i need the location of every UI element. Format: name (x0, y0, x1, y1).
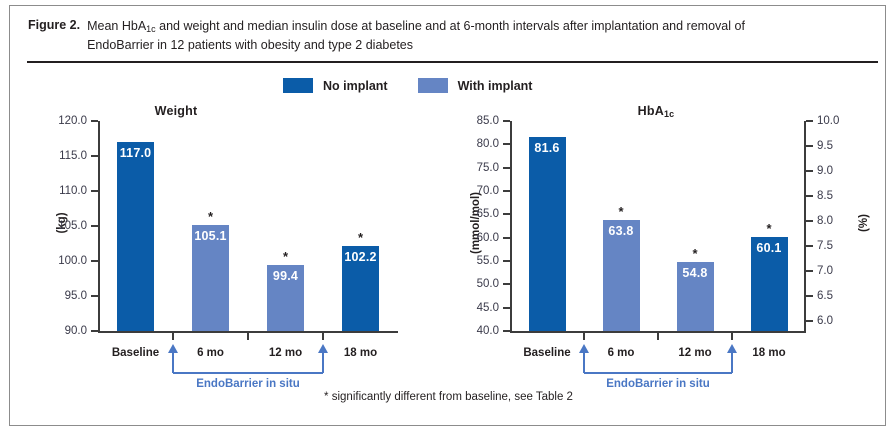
chart-title-hba1c: HbA1c (434, 104, 878, 119)
y-tick-label-hba1c: 80.0 (477, 138, 499, 150)
figure-frame: Figure 2. Mean HbA1c and weight and medi… (9, 5, 886, 426)
y-tick-right-hba1c (806, 245, 813, 247)
y-tick-hba1c (503, 120, 510, 122)
y-axis-weight (98, 121, 100, 333)
y-tick-hba1c (503, 143, 510, 145)
endobarrier-bracket-hba1c: EndoBarrier in situ (510, 333, 806, 393)
legend-swatch-no-implant (283, 78, 313, 93)
caption-text-pre: Mean HbA (87, 19, 146, 33)
y-tick-right-hba1c (806, 295, 813, 297)
bar-weight-6-mo: 105.1 (192, 225, 230, 331)
legend-item-with-implant: With implant (418, 78, 533, 93)
y-tick-right-hba1c (806, 145, 813, 147)
bar-value-label: 54.8 (677, 266, 714, 280)
plot-area-weight: (kg) 90.095.0100.0105.0110.0115.0120.011… (98, 121, 398, 333)
y-tick-right-hba1c (806, 195, 813, 197)
y-tick-label-right-hba1c: 8.0 (817, 215, 833, 227)
bar-value-label: 60.1 (751, 241, 788, 255)
bar-value-label: 102.2 (342, 250, 380, 264)
bracket-arrow-icon (318, 344, 328, 353)
caption-text-line2: EndoBarrier in 12 patients with obesity … (87, 38, 413, 52)
bar-hba1c-12-mo: 54.8 (677, 262, 714, 331)
bracket-arrow-icon (168, 344, 178, 353)
y-tick-weight (91, 190, 98, 192)
y-tick-right-hba1c (806, 320, 813, 322)
y-tick-label-hba1c: 40.0 (477, 325, 499, 337)
y-tick-label-weight: 105.0 (58, 220, 87, 232)
y-axis-right-hba1c (804, 121, 806, 333)
y-tick-label-weight: 115.0 (59, 150, 87, 162)
y-tick-label-right-hba1c: 8.5 (817, 190, 833, 202)
legend-label-no-implant: No implant (323, 79, 388, 93)
y-tick-right-hba1c (806, 220, 813, 222)
bar-hba1c-18-mo: 60.1 (751, 237, 788, 331)
bracket-arrow-icon (579, 344, 589, 353)
bracket-base-line (584, 372, 732, 374)
chart-panel-weight: Weight (kg) 90.095.0100.0105.0110.0115.0… (26, 104, 446, 404)
figure-footnote: * significantly different from baseline,… (10, 391, 887, 403)
y-tick-right-hba1c (806, 170, 813, 172)
bar-value-label: 117.0 (117, 146, 155, 160)
y-tick-hba1c (503, 213, 510, 215)
bar-weight-12-mo: 99.4 (267, 265, 305, 331)
y-tick-hba1c (503, 307, 510, 309)
caption-subscript: 1c (146, 24, 156, 34)
significance-marker: * (687, 247, 703, 260)
bracket-label: EndoBarrier in situ (606, 378, 710, 390)
bracket-arm (172, 352, 174, 373)
y-tick-weight (91, 120, 98, 122)
bracket-base-line (173, 372, 323, 374)
y-tick-weight (91, 330, 98, 332)
y-tick-label-right-hba1c: 7.5 (817, 240, 833, 252)
plot-area-hba1c: (mmol/mol) (%) 40.045.050.055.060.065.07… (510, 121, 806, 333)
y-tick-hba1c (503, 237, 510, 239)
y-tick-weight (91, 295, 98, 297)
y-tick-label-hba1c: 65.0 (477, 208, 499, 220)
y-tick-label-weight: 110.0 (59, 185, 87, 197)
bar-value-label: 105.1 (192, 229, 230, 243)
chart-panel-hba1c: HbA1c (mmol/mol) (%) 40.045.050.055.060.… (446, 104, 890, 404)
bar-hba1c-baseline: 81.6 (529, 137, 566, 331)
y-tick-weight (91, 225, 98, 227)
y-axis-hba1c (510, 121, 512, 333)
y-tick-hba1c (503, 330, 510, 332)
bracket-arm (583, 352, 585, 373)
figure-caption: Figure 2. Mean HbA1c and weight and medi… (28, 18, 868, 53)
y-tick-hba1c (503, 167, 510, 169)
y-tick-right-hba1c (806, 120, 813, 122)
y-tick-label-right-hba1c: 7.0 (817, 265, 833, 277)
significance-marker: * (278, 250, 294, 263)
y-tick-label-hba1c: 60.0 (477, 232, 499, 244)
y-tick-right-hba1c (806, 270, 813, 272)
bracket-label: EndoBarrier in situ (196, 378, 300, 390)
y-tick-label-hba1c: 45.0 (477, 302, 499, 314)
chart-title-hba1c-main: HbA (638, 104, 664, 118)
bar-weight-18-mo: 102.2 (342, 246, 380, 331)
significance-marker: * (613, 205, 629, 218)
legend-swatch-with-implant (418, 78, 448, 93)
y-axis-right-title-hba1c: (%) (858, 203, 870, 243)
y-tick-hba1c (503, 190, 510, 192)
y-tick-label-right-hba1c: 9.0 (817, 165, 833, 177)
significance-marker: * (761, 222, 777, 235)
y-tick-label-hba1c: 85.0 (477, 115, 499, 127)
bar-value-label: 81.6 (529, 141, 566, 155)
bar-weight-baseline: 117.0 (117, 142, 155, 331)
chart-legend: No implant With implant (283, 78, 532, 93)
legend-item-no-implant: No implant (283, 78, 388, 93)
y-tick-label-right-hba1c: 10.0 (817, 115, 839, 127)
chart-title-hba1c-subscript: 1c (664, 109, 674, 119)
significance-marker: * (353, 231, 369, 244)
y-tick-label-hba1c: 75.0 (477, 162, 499, 174)
bar-value-label: 99.4 (267, 269, 305, 283)
caption-text-post: and weight and median insulin dose at ba… (156, 19, 745, 33)
y-tick-label-hba1c: 70.0 (477, 185, 499, 197)
bracket-arrow-icon (727, 344, 737, 353)
bracket-arm (731, 352, 733, 373)
bar-hba1c-6-mo: 63.8 (603, 220, 640, 331)
legend-label-with-implant: With implant (458, 79, 533, 93)
y-tick-label-weight: 100.0 (58, 255, 87, 267)
figure-label: Figure 2. (28, 18, 80, 32)
bar-value-label: 63.8 (603, 224, 640, 238)
y-tick-label-weight: 95.0 (65, 290, 87, 302)
figure-caption-text: Mean HbA1c and weight and median insulin… (87, 18, 745, 53)
y-tick-label-weight: 120.0 (58, 115, 87, 127)
endobarrier-bracket-weight: EndoBarrier in situ (98, 333, 398, 393)
significance-marker: * (203, 210, 219, 223)
y-tick-hba1c (503, 260, 510, 262)
y-tick-label-right-hba1c: 6.5 (817, 290, 833, 302)
y-tick-label-right-hba1c: 6.0 (817, 315, 833, 327)
y-tick-label-right-hba1c: 9.5 (817, 140, 833, 152)
y-tick-label-hba1c: 55.0 (477, 255, 499, 267)
y-tick-label-hba1c: 50.0 (477, 278, 499, 290)
y-tick-weight (91, 260, 98, 262)
bracket-arm (322, 352, 324, 373)
y-tick-weight (91, 155, 98, 157)
caption-divider (27, 61, 878, 63)
y-tick-label-weight: 90.0 (65, 325, 87, 337)
y-tick-hba1c (503, 283, 510, 285)
